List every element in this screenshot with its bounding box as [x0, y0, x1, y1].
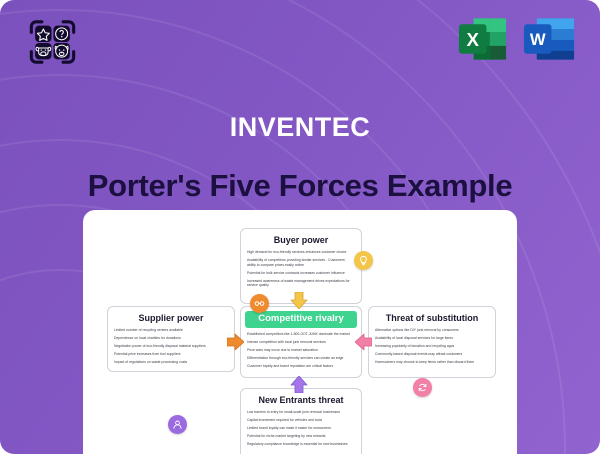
force-title-threat-of-substitution: Threat of substitution — [375, 312, 489, 324]
badge-lightbulb-icon — [354, 251, 373, 270]
bullet-item: Homeowners may choose to keep items rath… — [375, 360, 489, 365]
arrow-left-substitute-to-rivalry-icon — [355, 332, 372, 352]
bullet-item: Potential for niche market targeting by … — [247, 434, 355, 439]
force-box-new-entrants-threat[interactable]: New Entrants threat Low barriers to entr… — [240, 388, 362, 454]
bullet-item: Limited number of recycling centers avai… — [114, 328, 228, 333]
force-bullets-supplier-power: Limited number of recycling centers avai… — [114, 328, 228, 365]
bullet-item: High demand for eco-friendly services en… — [247, 250, 355, 255]
bullet-item: Differentiation through eco-friendly ser… — [247, 356, 355, 361]
slide-canvas: X W INVENTEC Porter's Five Forces Exampl… — [0, 0, 600, 454]
badge-recycle-icon — [413, 378, 432, 397]
force-title-buyer-power: Buyer power — [247, 234, 355, 246]
arrow-down-buyer-to-rivalry-icon — [289, 292, 309, 309]
arrow-right-supplier-to-rivalry-icon — [227, 332, 244, 352]
word-icon[interactable]: W — [523, 13, 578, 65]
force-bullets-new-entrants-threat: Low barriers to entry for small-scale ju… — [247, 410, 355, 447]
brand-logo[interactable] — [25, 16, 80, 68]
bullet-item: Potential for bulk service contracts inc… — [247, 271, 355, 276]
diagram-card: Buyer power High demand for eco-friendly… — [83, 210, 517, 454]
office-app-icons: X W — [456, 13, 578, 65]
force-title-supplier-power: Supplier power — [114, 312, 228, 324]
bullet-item: Community-based disposal events may attr… — [375, 352, 489, 357]
pet-id-grid-icon — [25, 16, 80, 68]
badge-handshake-icon — [250, 294, 269, 313]
bullet-item: Negotiation power of eco-friendly dispos… — [114, 344, 228, 349]
bullet-item: Low barriers to entry for small-scale ju… — [247, 410, 355, 415]
bullet-item: Limited brand loyalty can make it easier… — [247, 426, 355, 431]
force-bullets-competitive-rivalry: Established competitors like 1-800-GOT-J… — [247, 332, 355, 369]
page-title: Porter's Five Forces Example — [0, 168, 600, 204]
force-box-supplier-power[interactable]: Supplier power Limited number of recycli… — [107, 306, 235, 372]
bullet-item: Availability of competitors providing si… — [247, 258, 355, 267]
force-bullets-threat-of-substitution: Alternative options like DIY junk remova… — [375, 328, 489, 365]
force-box-competitive-rivalry[interactable]: Competitive rivalry Established competit… — [240, 306, 362, 378]
svg-text:X: X — [466, 29, 479, 50]
arrow-up-entrants-to-rivalry-icon — [289, 376, 309, 393]
bullet-item: Availability of local disposal services … — [375, 336, 489, 341]
bullet-item: Potential price increases from fuel supp… — [114, 352, 228, 357]
bullet-item: Capital investment required for vehicles… — [247, 418, 355, 423]
svg-text:W: W — [530, 30, 546, 49]
excel-icon[interactable]: X — [456, 13, 511, 65]
bullet-item: Impact of regulations on waste processin… — [114, 360, 228, 365]
bullet-item: Intense competition with local junk remo… — [247, 340, 355, 345]
bullet-item: Customer loyalty and brand reputation ar… — [247, 364, 355, 369]
force-title-competitive-rivalry: Competitive rivalry — [245, 311, 357, 328]
force-bullets-buyer-power: High demand for eco-friendly services en… — [247, 250, 355, 288]
bullet-item: Dependence on local charities for donati… — [114, 336, 228, 341]
bullet-item: Regulatory compliance knowledge is essen… — [247, 442, 355, 447]
brand-name: INVENTEC — [0, 112, 600, 143]
bullet-item: Price wars may occur due to market satur… — [247, 348, 355, 353]
badge-user-icon — [168, 415, 187, 434]
porters-five-forces-diagram: Buyer power High demand for eco-friendly… — [83, 210, 517, 454]
bullet-item: Increasing popularity of donation and re… — [375, 344, 489, 349]
force-title-new-entrants-threat: New Entrants threat — [247, 394, 355, 406]
bullet-item: Increased awareness of waste management … — [247, 279, 355, 288]
force-box-threat-of-substitution[interactable]: Threat of substitution Alternative optio… — [368, 306, 496, 378]
bullet-item: Established competitors like 1-800-GOT-J… — [247, 332, 355, 337]
bullet-item: Alternative options like DIY junk remova… — [375, 328, 489, 333]
